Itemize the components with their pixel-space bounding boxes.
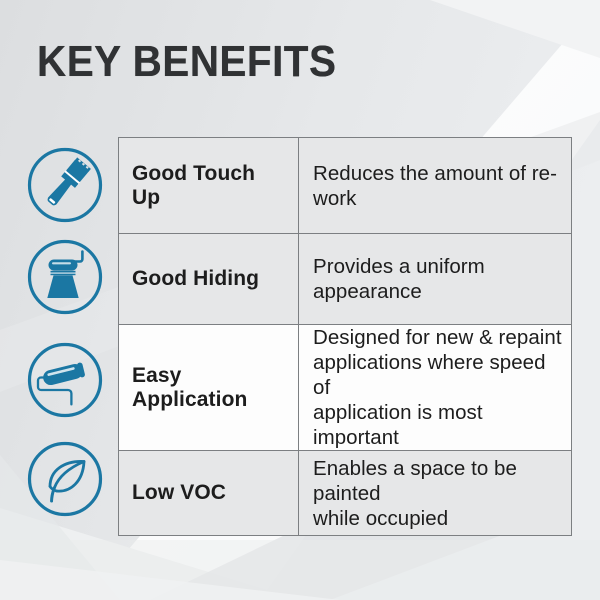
key-benefits-infographic: KEY BENEFITS bbox=[0, 0, 600, 600]
benefit-label-line: Good Touch Up bbox=[132, 162, 286, 210]
benefit-description-line: Reduces the amount of re-work bbox=[313, 161, 563, 211]
benefit-label-cell: Good Hiding bbox=[119, 234, 299, 325]
paint-roller-vertical-icon bbox=[26, 238, 104, 316]
table-row: Easy Application Designed for new & repa… bbox=[119, 325, 572, 451]
benefit-description-line: Provides a uniform appearance bbox=[313, 254, 563, 304]
benefit-label-line: Good Hiding bbox=[132, 267, 286, 291]
benefit-icon-cell-2 bbox=[24, 232, 106, 322]
benefit-description-cell: Designed for new & repaint applications … bbox=[299, 325, 572, 451]
table-row: Good Hiding Provides a uniform appearanc… bbox=[119, 234, 572, 325]
benefit-description-line: Enables a space to be painted bbox=[313, 456, 563, 506]
page-title: KEY BENEFITS bbox=[37, 38, 336, 86]
benefit-label-line: Application bbox=[132, 388, 286, 412]
benefit-label-cell: Good Touch Up bbox=[119, 138, 299, 234]
benefit-description-line: Designed for new & repaint bbox=[313, 325, 563, 350]
benefit-description-cell: Provides a uniform appearance bbox=[299, 234, 572, 325]
benefits-table: Good Touch Up Reduces the amount of re-w… bbox=[118, 137, 572, 536]
benefit-label-line: Easy bbox=[132, 364, 286, 388]
paintbrush-icon bbox=[26, 146, 104, 224]
benefit-label-line: Low VOC bbox=[132, 481, 286, 505]
leaf-icon bbox=[26, 440, 104, 518]
benefit-description-cell: Enables a space to be painted while occu… bbox=[299, 451, 572, 536]
benefit-icon-cell-1 bbox=[24, 137, 106, 232]
benefit-description-line: applications where speed of bbox=[313, 350, 563, 400]
benefit-icon-cell-3 bbox=[24, 322, 106, 437]
table-row: Low VOC Enables a space to be painted wh… bbox=[119, 451, 572, 536]
table-row: Good Touch Up Reduces the amount of re-w… bbox=[119, 138, 572, 234]
benefit-icon-rail bbox=[24, 137, 106, 522]
benefit-description-line: while occupied bbox=[313, 506, 563, 531]
benefit-description-line: application is most important bbox=[313, 400, 563, 450]
benefit-icon-cell-4 bbox=[24, 437, 106, 521]
benefit-description-cell: Reduces the amount of re-work bbox=[299, 138, 572, 234]
benefit-label-cell: Easy Application bbox=[119, 325, 299, 451]
paint-roller-horizontal-icon bbox=[26, 341, 104, 419]
benefit-label-cell: Low VOC bbox=[119, 451, 299, 536]
